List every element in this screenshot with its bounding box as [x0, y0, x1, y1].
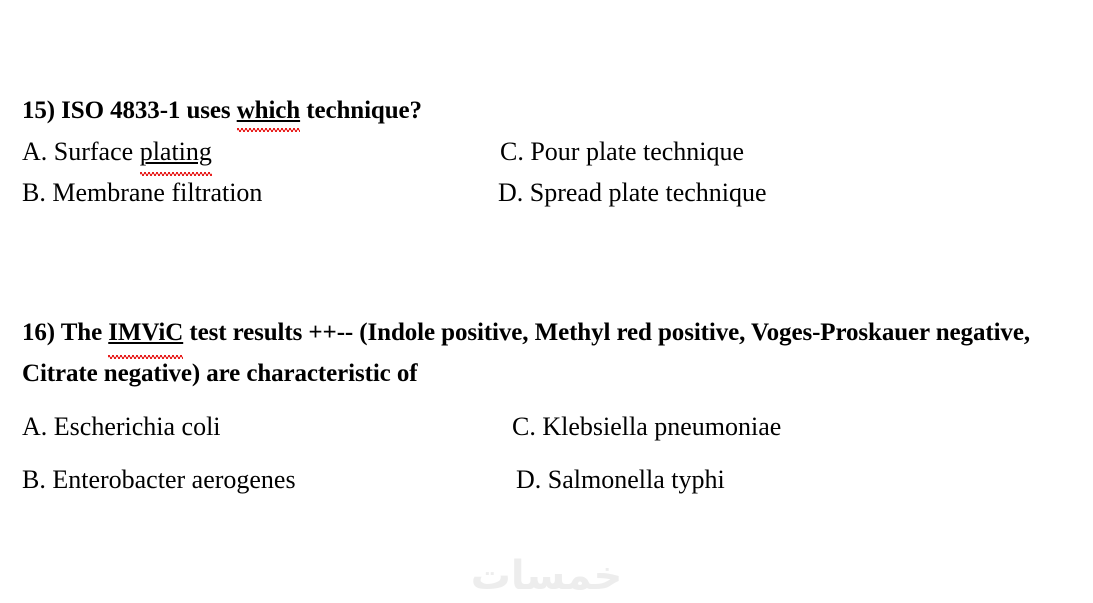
question-15-option-d[interactable]: D. Spread plate technique — [498, 172, 767, 213]
question-16-option-a[interactable]: A. Escherichia coli — [22, 406, 221, 447]
question-16-option-b[interactable]: B. Enterobacter aerogenes — [22, 459, 296, 500]
question-15-option-c[interactable]: C. Pour plate technique — [500, 131, 744, 172]
question-16-heading-lead: 16) The — [22, 319, 108, 346]
question-15-option-row-1: A. Surface plating C. Pour plate techniq… — [0, 131, 1093, 172]
question-15-option-b[interactable]: B. Membrane filtration — [22, 172, 262, 213]
question-16-spellchecked-word: IMViC — [108, 312, 183, 353]
question-16-block: 16) The IMViC test results ++-- (Indole … — [0, 312, 1093, 512]
question-15-spellchecked-word: which — [237, 96, 300, 126]
question-16-option-row-2: B. Enterobacter aerogenes D. Salmonella … — [0, 459, 1093, 512]
question-15-option-a-spellchecked-word: plating — [140, 131, 212, 172]
question-16-option-d[interactable]: D. Salmonella typhi — [516, 459, 725, 500]
question-15-heading-lead: 15) ISO 4833-1 uses — [22, 97, 237, 124]
question-15-heading-tail: technique? — [300, 97, 422, 124]
question-16-option-row-1: A. Escherichia coli C. Klebsiella pneumo… — [0, 406, 1093, 459]
question-15-option-a-label: A. Surface — [22, 137, 140, 166]
khamsat-watermark: خمسات — [0, 552, 1093, 600]
question-15-options: A. Surface plating C. Pour plate techniq… — [0, 131, 1093, 213]
question-16-options: A. Escherichia coli C. Klebsiella pneumo… — [0, 406, 1093, 512]
question-15-heading: 15) ISO 4833-1 uses which technique? — [0, 96, 1093, 126]
document-page: 15) ISO 4833-1 uses which technique? A. … — [0, 0, 1093, 603]
question-15-option-a[interactable]: A. Surface plating — [22, 131, 212, 172]
question-16-option-c[interactable]: C. Klebsiella pneumoniae — [512, 406, 781, 447]
question-16-heading: 16) The IMViC test results ++-- (Indole … — [0, 312, 1093, 394]
question-15-block: 15) ISO 4833-1 uses which technique? A. … — [0, 96, 1093, 213]
question-15-option-row-2: B. Membrane filtration D. Spread plate t… — [0, 172, 1093, 213]
